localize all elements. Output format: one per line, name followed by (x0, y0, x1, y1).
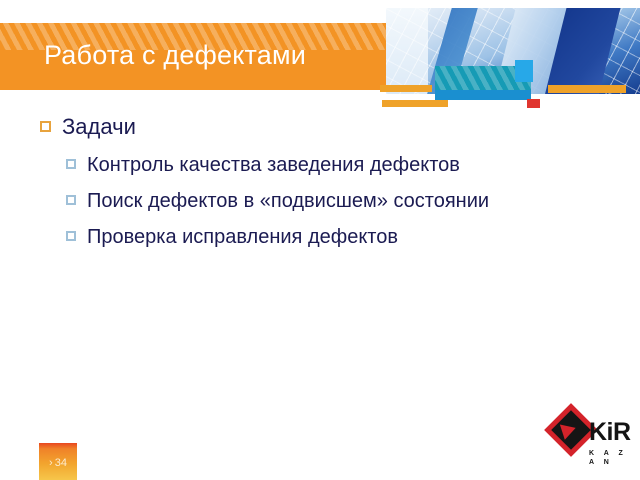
page-number-group: › 34 (49, 458, 67, 469)
list-item-label: Поиск дефектов в «подвисшем» состоянии (87, 187, 489, 215)
bullet-square-icon (66, 195, 76, 205)
decor-orange-bar-lower-left (382, 100, 448, 107)
bullet-square-icon (40, 121, 51, 132)
list-item: Поиск дефектов в «подвисшем» состоянии (66, 187, 600, 215)
page-number-tab: › 34 (39, 443, 77, 480)
page-title: Работа с дефектами (44, 38, 464, 72)
bullet-square-icon (66, 159, 76, 169)
logo-wordmark: KiR (589, 420, 631, 445)
slide-canvas: Работа с дефектами Задачи Контроль качес… (0, 0, 640, 480)
decor-orange-bar-upper-left (380, 85, 432, 92)
list-item-label: Контроль качества заведения дефектов (87, 151, 460, 179)
chevron-right-icon: › (49, 458, 53, 469)
list-item: Задачи (40, 112, 600, 142)
list-item-label: Проверка исправления дефектов (87, 223, 398, 251)
bullet-square-icon (66, 231, 76, 241)
decor-red-square (527, 99, 540, 108)
logo-city-label: K A Z A N (589, 449, 635, 467)
bullet-list: Задачи Контроль качества заведения дефек… (40, 112, 600, 259)
slide-header: Работа с дефектами (0, 0, 640, 120)
decor-orange-bar-right (548, 85, 626, 93)
list-item: Контроль качества заведения дефектов (66, 151, 600, 179)
company-logo: KiR K A Z A N (543, 404, 635, 474)
page-number: 34 (55, 458, 67, 469)
list-item: Проверка исправления дефектов (66, 223, 600, 251)
decor-cyan-square (515, 60, 533, 82)
list-item-label: Задачи (62, 112, 136, 142)
